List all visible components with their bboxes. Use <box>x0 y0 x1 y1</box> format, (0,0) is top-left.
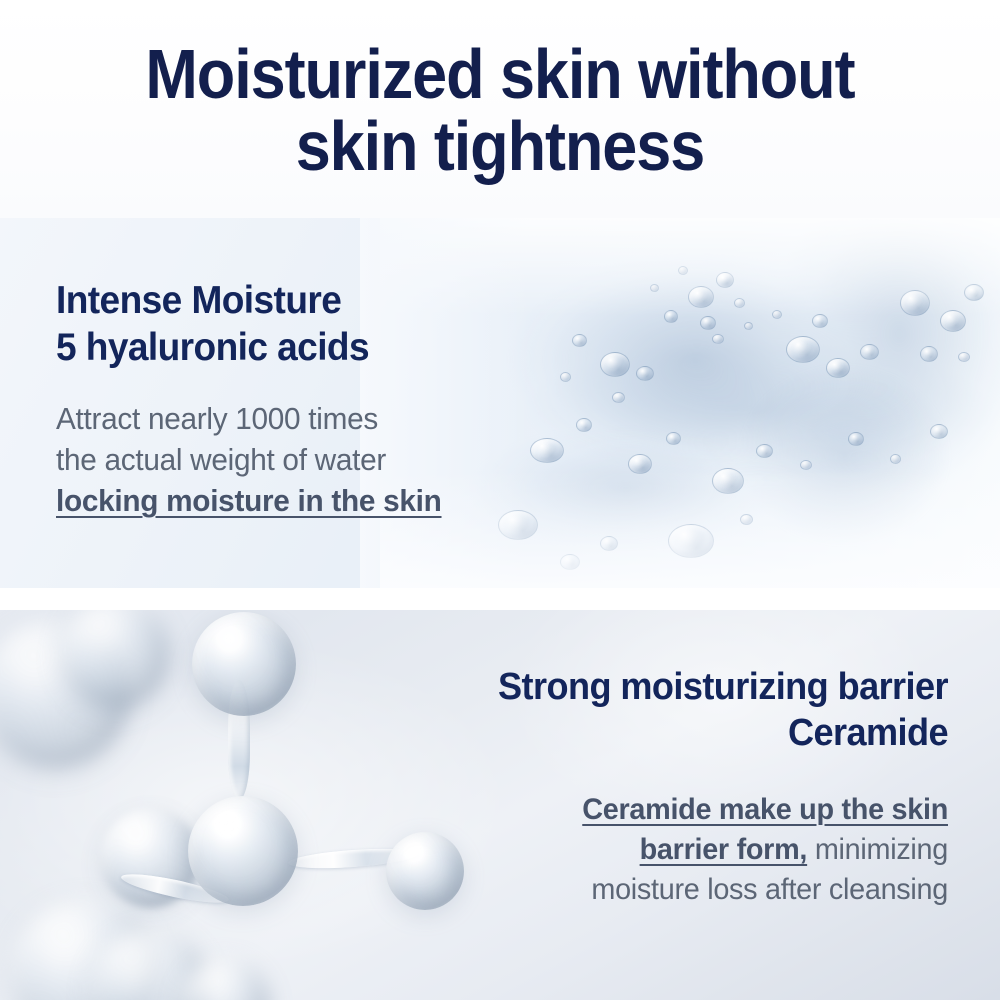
water-bubble <box>958 352 970 362</box>
hyaluronic-body-highlight: locking moisture in the skin <box>56 480 459 521</box>
ceramide-heading-line-2: Ceramide <box>473 711 948 757</box>
ceramide-heading-line-1: Strong moisturizing barrier <box>473 665 948 711</box>
water-bubble <box>666 432 681 445</box>
water-bubble <box>930 424 948 439</box>
ceramide-body-line-2: barrier form, minimizing <box>468 830 948 870</box>
hyaluronic-body: Attract nearly 1000 times the actual wei… <box>56 398 459 522</box>
ceramide-body-line-3: moisture loss after cleansing <box>468 870 948 910</box>
water-bubble <box>530 438 564 463</box>
ceramide-text-block: Strong moisturizing barrier Ceramide Cer… <box>448 665 948 910</box>
water-bubble <box>800 460 812 470</box>
water-bubble <box>920 346 938 362</box>
water-bubble <box>576 418 592 432</box>
water-bubble <box>712 334 724 344</box>
water-bubble <box>612 392 625 403</box>
water-bubble <box>744 322 753 330</box>
panel-divider <box>0 588 1000 610</box>
headline-line-1: Moisturized skin without <box>145 38 854 110</box>
hyaluronic-body-line-1: Attract nearly 1000 times <box>56 398 459 439</box>
hyaluronic-heading-line-1: Intense Moisture <box>56 278 455 325</box>
headline-line-2: skin tightness <box>296 110 704 182</box>
ceramide-body-highlight-2: barrier form, <box>640 833 808 866</box>
molecule-sphere-center <box>188 796 298 906</box>
ceramide-body: Ceramide make up the skin barrier form, … <box>468 790 948 910</box>
water-bubble <box>812 314 828 328</box>
water-bubble <box>786 336 820 363</box>
water-bubble <box>636 366 654 381</box>
water-bubble <box>600 352 630 377</box>
water-bubble <box>756 444 773 458</box>
ceramide-heading: Strong moisturizing barrier Ceramide <box>473 665 948 756</box>
section-ceramide: Strong moisturizing barrier Ceramide Cer… <box>0 608 1000 1000</box>
water-bubble <box>848 432 864 446</box>
hyaluronic-text-block: Intense Moisture 5 hyaluronic acids Attr… <box>56 278 476 521</box>
hyaluronic-heading-line-2: 5 hyaluronic acids <box>56 325 455 372</box>
ceramide-body-line-2-rest: minimizing <box>807 833 948 866</box>
headline-band: Moisturized skin without skin tightness <box>0 0 1000 218</box>
hyaluronic-heading: Intense Moisture 5 hyaluronic acids <box>56 278 455 372</box>
molecule-sphere-top <box>192 612 296 716</box>
ceramide-body-highlight-1: Ceramide make up the skin <box>468 790 948 830</box>
product-detail-image: Moisturized skin without skin tightness <box>0 0 1000 1000</box>
water-bubble <box>826 358 850 378</box>
water-bubble <box>890 454 901 464</box>
water-bubble <box>700 316 716 330</box>
water-bubble <box>560 372 571 382</box>
water-bubble <box>572 334 587 347</box>
hyaluronic-body-line-2: the actual weight of water <box>56 439 459 480</box>
water-bubble <box>860 344 879 360</box>
